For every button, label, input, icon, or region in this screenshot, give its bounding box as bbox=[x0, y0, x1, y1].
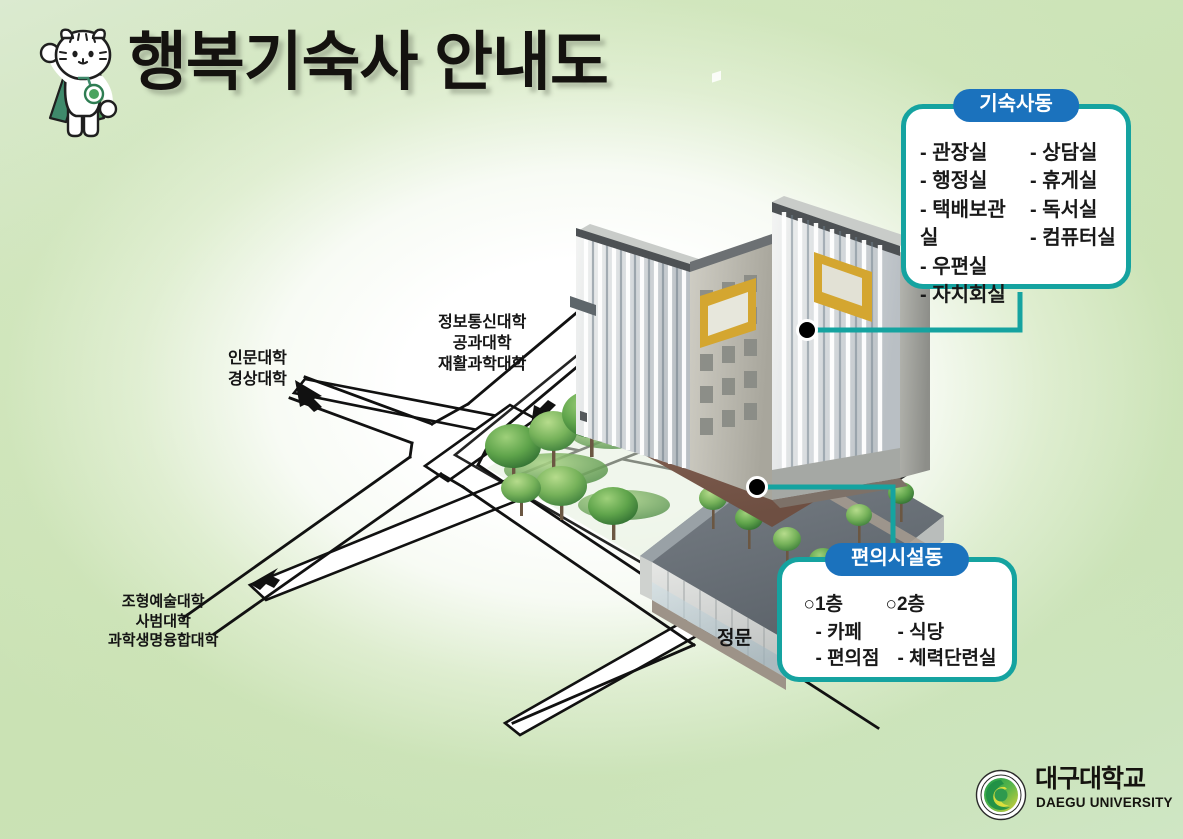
callout-dormitory-building: 기숙사동 - 관장실 - 행정실 - 택배보관실 - 우편실 - 자치회실 - … bbox=[901, 104, 1131, 289]
floor-label: ○1층 bbox=[803, 592, 879, 619]
callout-convenience-body: ○1층 - 카페 - 편의점 ○2층 - 식당 - 체력단련실 bbox=[782, 592, 1012, 673]
map-label-line: 인문대학 bbox=[228, 349, 287, 370]
map-label-line: 재활과학대학 bbox=[438, 355, 526, 376]
list-item: - 식당 bbox=[886, 620, 997, 647]
map-label-main-gate: 정문 bbox=[717, 627, 752, 652]
list-item: - 독서실 bbox=[1030, 196, 1126, 224]
map-label-line: 사범대학 bbox=[108, 612, 218, 632]
map-label-line: 경상대학 bbox=[228, 370, 287, 391]
list-item: - 관장실 bbox=[920, 139, 1020, 167]
list-item: - 컴퓨터실 bbox=[1030, 224, 1126, 252]
logo-english-name: DAEGU UNIVERSITY bbox=[1036, 796, 1173, 810]
list-item: - 체력단련실 bbox=[886, 646, 997, 673]
list-item: - 휴게실 bbox=[1030, 167, 1126, 195]
map-label-line: 정보통신대학 bbox=[438, 313, 526, 334]
marker-dot-dorm bbox=[798, 321, 817, 340]
tree bbox=[501, 473, 541, 516]
list-item: - 택배보관실 bbox=[920, 196, 1020, 253]
map-label-humanities-colleges: 인문대학 경상대학 bbox=[228, 349, 287, 391]
list-item: - 상담실 bbox=[1030, 139, 1126, 167]
map-label-it-colleges: 정보통신대학 공과대학 재활과학대학 bbox=[438, 313, 526, 375]
list-item: - 편의점 bbox=[803, 646, 879, 673]
guide-map-poster: 행복기숙사 안내도 정보통신대학 공과대학 재활과학대학 인문대학 경상대학 조… bbox=[0, 0, 1183, 839]
convenience-floor-1: ○1층 - 카페 - 편의점 bbox=[803, 592, 879, 673]
callout-dormitory-title: 기숙사동 bbox=[953, 89, 1079, 122]
page-title: 행복기숙사 안내도 bbox=[128, 30, 608, 94]
list-item: - 자치회실 bbox=[920, 281, 1020, 309]
logo-korean-name: 대구대학교 bbox=[1035, 767, 1145, 792]
daegu-university-emblem-icon bbox=[975, 769, 1027, 821]
university-logo: 대구대학교 DAEGU UNIVERSITY bbox=[975, 767, 1160, 823]
white-tiger-mascot-icon bbox=[26, 22, 130, 142]
map-label-line: 공과대학 bbox=[438, 334, 526, 355]
map-label-line: 과학생명융합대학 bbox=[108, 631, 218, 651]
floor-label: ○2층 bbox=[886, 592, 997, 619]
marker-dot-convenience bbox=[748, 478, 767, 497]
convenience-floor-2: ○2층 - 식당 - 체력단련실 bbox=[886, 592, 997, 673]
callout-convenience-title: 편의시설동 bbox=[825, 543, 969, 576]
map-label-line: 조형예술대학 bbox=[108, 592, 218, 612]
dormitory-facility-column-2: - 상담실 - 휴게실 - 독서실 - 컴퓨터실 bbox=[1030, 139, 1126, 309]
list-item: - 카페 bbox=[803, 620, 879, 647]
list-item: - 행정실 bbox=[920, 167, 1020, 195]
callout-convenience-building: 편의시설동 ○1층 - 카페 - 편의점 ○2층 - 식당 - 체력단련실 bbox=[777, 557, 1017, 682]
dormitory-facility-column-1: - 관장실 - 행정실 - 택배보관실 - 우편실 - 자치회실 bbox=[920, 139, 1020, 309]
map-label-arts-colleges: 조형예술대학 사범대학 과학생명융합대학 bbox=[108, 592, 218, 651]
callout-dormitory-body: - 관장실 - 행정실 - 택배보관실 - 우편실 - 자치회실 - 상담실 -… bbox=[906, 139, 1126, 309]
list-item: - 우편실 bbox=[920, 253, 1020, 281]
